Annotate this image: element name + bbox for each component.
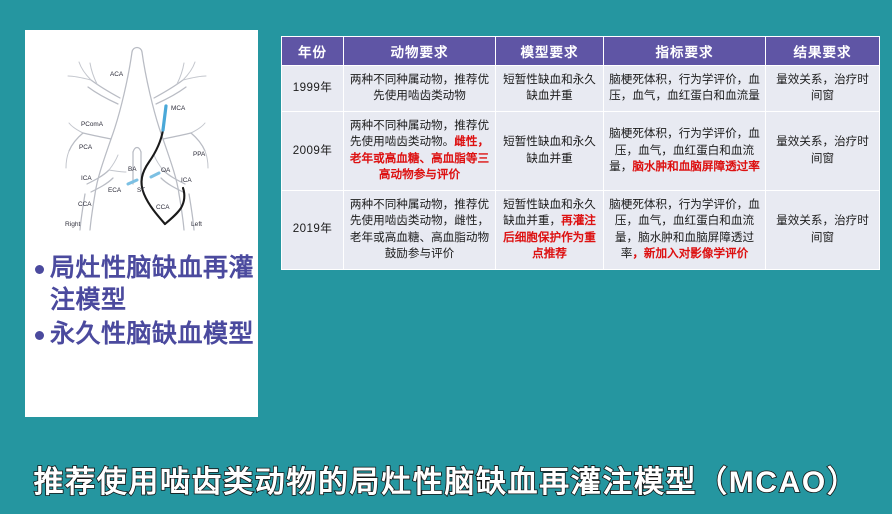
- cell-index-2009: 脑梗死体积，行为学评价，血压，血气，血红蛋白和血流量，脑水肿和血脑屏障透过率: [604, 111, 766, 190]
- cell-year-2019: 2019年: [282, 190, 344, 269]
- requirements-table: 年份 动物要求 模型要求 指标要求 结果要求 1999年 两种不同种属动物，推荐…: [281, 36, 880, 270]
- left-illustration-card: ACA MCA PComA PCA PPA BA OA ICA ICA ECA …: [25, 30, 258, 417]
- diagram-label-cca-left: CCA: [156, 204, 170, 211]
- bottom-banner: 推荐使用啮齿类动物的局灶性脑缺血再灌注模型（MCAO）: [0, 443, 892, 514]
- diagram-side-label-right: Right: [65, 221, 81, 228]
- cell-animal-1999: 两种不同种属动物，推荐优先使用啮齿类动物: [344, 66, 496, 112]
- diagram-label-ica-right: ICA: [81, 175, 92, 182]
- bullet-label-permanent-ischemia: 永久性脑缺血模型: [50, 318, 254, 350]
- list-item: 局灶性脑缺血再灌注模型: [35, 252, 258, 316]
- diagram-label-mca: MCA: [171, 105, 186, 112]
- cell-result-1999: 量效关系，治疗时间窗: [766, 66, 880, 112]
- diagram-side-label-left: Left: [191, 221, 202, 228]
- diagram-label-aca: ACA: [110, 71, 124, 78]
- cell-index-1999: 脑梗死体积，行为学评价，血压，血气，血红蛋白和血流量: [604, 66, 766, 112]
- table-row: 2019年 两种不同种属动物，推荐优先使用啮齿类动物，雌性，老年或高血糖、高血脂…: [282, 190, 880, 269]
- diagram-label-ica-left: ICA: [181, 177, 192, 184]
- cell-result-2009: 量效关系，治疗时间窗: [766, 111, 880, 190]
- bullet-dot-icon: [35, 265, 44, 274]
- list-item: 永久性脑缺血模型: [35, 318, 258, 350]
- cell-model-2009: 短暂性缺血和永久缺血并重: [496, 111, 604, 190]
- diagram-label-cca-right: CCA: [78, 201, 92, 208]
- cell-animal-2009: 两种不同种属动物，推荐优先使用啮齿类动物。雌性，老年或高血糖、高血脂等三高动物参…: [344, 111, 496, 190]
- diagram-label-pca: PCA: [79, 144, 93, 151]
- diagram-label-pcoma: PComA: [81, 121, 104, 128]
- banner-caption: 推荐使用啮齿类动物的局灶性脑缺血再灌注模型（MCAO）: [34, 457, 859, 501]
- bullet-dot-icon: [35, 331, 44, 340]
- column-header-result: 结果要求: [766, 37, 880, 66]
- cerebral-artery-diagram: ACA MCA PComA PCA PPA BA OA ICA ICA ECA …: [25, 34, 258, 246]
- cell-model-1999: 短暂性缺血和永久缺血并重: [496, 66, 604, 112]
- cell-result-2019: 量效关系，治疗时间窗: [766, 190, 880, 269]
- table-row: 2009年 两种不同种属动物，推荐优先使用啮齿类动物。雌性，老年或高血糖、高血脂…: [282, 111, 880, 190]
- diagram-label-ba: BA: [128, 166, 137, 173]
- column-header-model: 模型要求: [496, 37, 604, 66]
- diagram-label-eca: ECA: [108, 187, 122, 194]
- diagram-label-oa: OA: [161, 167, 171, 174]
- column-header-animal: 动物要求: [344, 37, 496, 66]
- diagram-label-ppa: PPA: [193, 151, 206, 158]
- cell-year-2009: 2009年: [282, 111, 344, 190]
- model-bullet-list: 局灶性脑缺血再灌注模型 永久性脑缺血模型: [35, 252, 258, 352]
- cell-model-2019: 短暂性缺血和永久缺血并重，再灌注后细胞保护作为重点推荐: [496, 190, 604, 269]
- column-header-index: 指标要求: [604, 37, 766, 66]
- table-header-row: 年份 动物要求 模型要求 指标要求 结果要求: [282, 37, 880, 66]
- bullet-label-focal-ischemia-reperfusion: 局灶性脑缺血再灌注模型: [50, 252, 258, 316]
- column-header-year: 年份: [282, 37, 344, 66]
- table-row: 1999年 两种不同种属动物，推荐优先使用啮齿类动物 短暂性缺血和永久缺血并重 …: [282, 66, 880, 112]
- cell-index-2019: 脑梗死体积，行为学评价，血压，血气，血红蛋白和血流量，脑水肿和血脑屏障透过率，新…: [604, 190, 766, 269]
- cell-year-1999: 1999年: [282, 66, 344, 112]
- diagram-label-st: ST: [137, 187, 145, 194]
- cell-animal-2019: 两种不同种属动物，推荐优先使用啮齿类动物，雌性，老年或高血糖、高血脂动物鼓励参与…: [344, 190, 496, 269]
